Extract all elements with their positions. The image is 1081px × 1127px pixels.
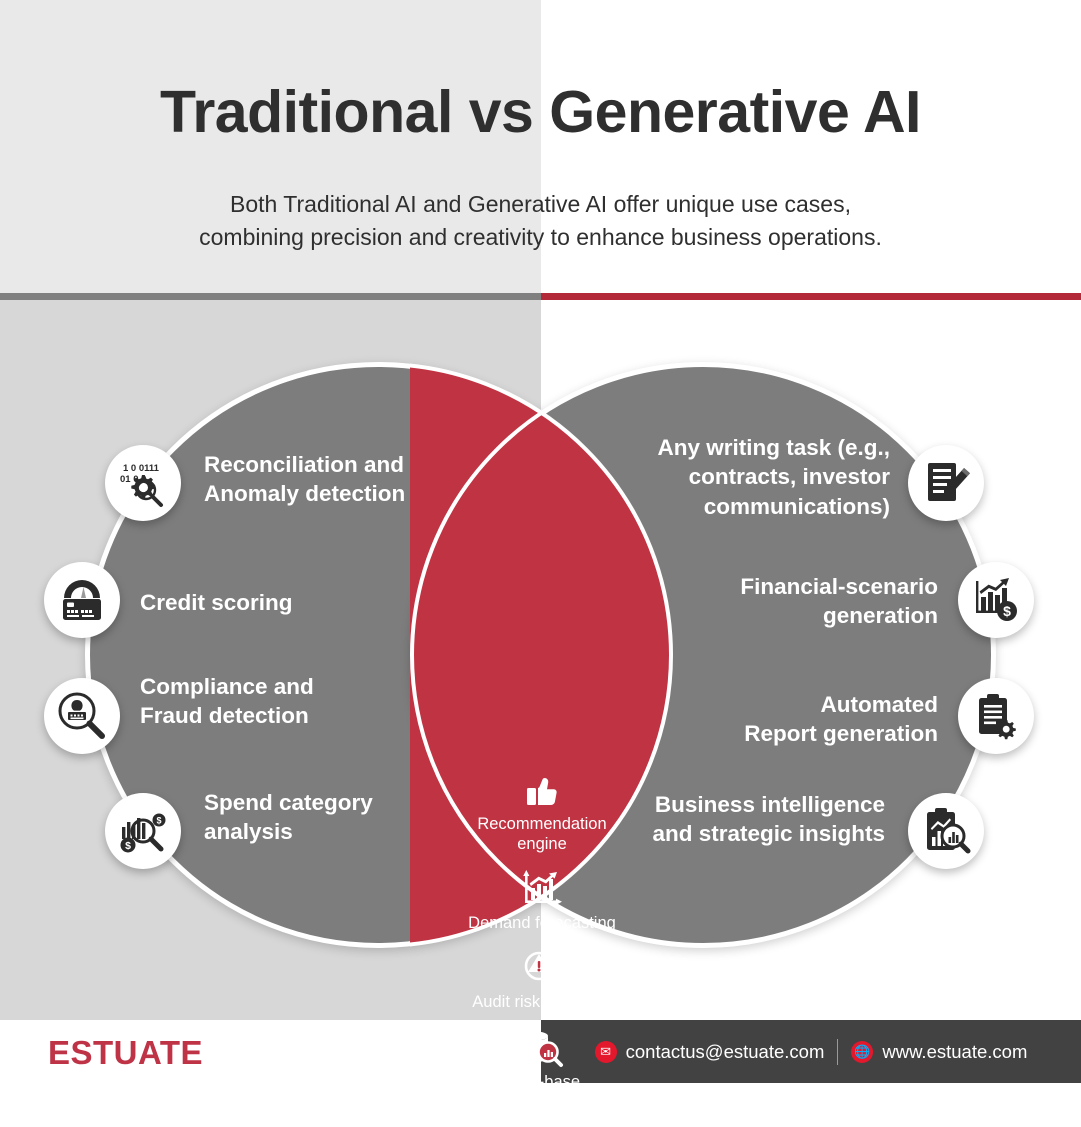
thumbs-up-icon xyxy=(418,770,666,812)
divider-right-red xyxy=(541,293,1081,300)
header: Traditional vs Generative AI Both Tradit… xyxy=(0,0,1081,293)
right-item-label-writing-task: Any writing task (e.g., contracts, inves… xyxy=(620,433,890,521)
overlap-item-recommendation-engine: Recommendation engine xyxy=(418,770,666,854)
label-line-2: Anomaly detection xyxy=(204,481,405,506)
overlap-label: Demand forecasting xyxy=(418,913,666,933)
venn-diagram-area: Reconciliation and Anomaly detection Cre… xyxy=(0,300,1081,1020)
credit-card-gauge-icon[interactable] xyxy=(44,562,120,638)
overlap-item-audit-risk-detection: Audit risk detection xyxy=(418,948,666,1012)
clipboard-analytics-magnifier-icon[interactable] xyxy=(908,793,984,869)
estuate-logo: ESTUATE xyxy=(48,1034,203,1072)
warning-magnifier-icon xyxy=(418,948,666,990)
label-line-1: Audit risk detection xyxy=(472,993,611,1011)
label-line-2: Fraud detection xyxy=(140,703,309,728)
globe-icon: 🌐 xyxy=(851,1041,873,1063)
right-item-label-automated-report: Automated Report generation xyxy=(690,690,938,749)
chart-dollar-icon[interactable]: $ xyxy=(958,562,1034,638)
overlap-label: Data-base insights xyxy=(418,1072,666,1112)
left-item-label-credit-scoring: Credit scoring xyxy=(140,588,385,617)
subtitle-line-1: Both Traditional AI and Generative AI of… xyxy=(230,191,851,217)
label-line-1: Recommendation xyxy=(477,815,606,833)
label-line-1: Business intelligence xyxy=(655,792,885,817)
spend-chart-magnifier-icon[interactable]: $ $ xyxy=(105,793,181,869)
database-magnifier-icon xyxy=(418,1028,666,1070)
label-line-2: Report generation xyxy=(744,721,938,746)
document-pencil-icon[interactable] xyxy=(908,445,984,521)
page-subtitle: Both Traditional AI and Generative AI of… xyxy=(0,188,1081,255)
label-line-1: Reconciliation and xyxy=(204,452,404,477)
footer-website[interactable]: 🌐 www.estuate.com xyxy=(851,1041,1027,1063)
overlap-item-list: Recommendation engine xyxy=(418,770,666,1127)
svg-text:1 0 0111: 1 0 0111 xyxy=(123,463,160,474)
binary-gear-magnifier-icon[interactable]: 1 0 0111 01 0 0 xyxy=(105,445,181,521)
label-line-1: Compliance and xyxy=(140,674,314,699)
overlap-label: Recommendation engine xyxy=(418,814,666,854)
label-line-2: and strategic insights xyxy=(652,821,885,846)
svg-text:$: $ xyxy=(156,816,161,826)
svg-text:$: $ xyxy=(1003,603,1011,619)
clipboard-gear-icon[interactable] xyxy=(958,678,1034,754)
page-title: Traditional vs Generative AI xyxy=(0,82,1081,144)
growth-bar-chart-icon xyxy=(418,869,666,911)
overlap-item-demand-forecasting: Demand forecasting xyxy=(418,869,666,933)
label-line-1: Any writing task (e.g., xyxy=(657,435,890,460)
left-item-label-reconciliation: Reconciliation and Anomaly detection xyxy=(204,450,449,509)
label-line-1: Demand forecasting xyxy=(468,914,616,932)
footer-website-text: www.estuate.com xyxy=(882,1041,1027,1063)
overlap-label: Audit risk detection xyxy=(418,992,666,1012)
divider-left-gray xyxy=(0,293,541,300)
footer-separator xyxy=(837,1039,838,1065)
overlap-item-database-insights: Data-base insights xyxy=(418,1028,666,1112)
svg-text:$: $ xyxy=(125,840,131,852)
left-item-label-compliance-fraud: Compliance and Fraud detection xyxy=(140,672,390,731)
left-item-label-spend-category: Spend category analysis xyxy=(204,788,434,847)
label-line-2: generation xyxy=(823,603,938,628)
label-line-2: contracts, investor xyxy=(689,464,890,489)
label-line-3: communications) xyxy=(704,494,890,519)
label-line-1: Credit scoring xyxy=(140,590,293,615)
label-line-2: insights xyxy=(514,1093,570,1111)
label-line-2: analysis xyxy=(204,819,293,844)
label-line-1: Financial-scenario xyxy=(740,574,938,599)
subtitle-line-2: combining precision and creativity to en… xyxy=(0,221,1081,254)
fraud-magnifier-icon[interactable] xyxy=(44,678,120,754)
label-line-1: Data-base xyxy=(504,1073,580,1091)
label-line-2: engine xyxy=(517,835,567,853)
right-item-label-financial-scenario: Financial-scenario generation xyxy=(690,572,938,631)
label-line-1: Automated xyxy=(821,692,939,717)
label-line-1: Spend category xyxy=(204,790,373,815)
